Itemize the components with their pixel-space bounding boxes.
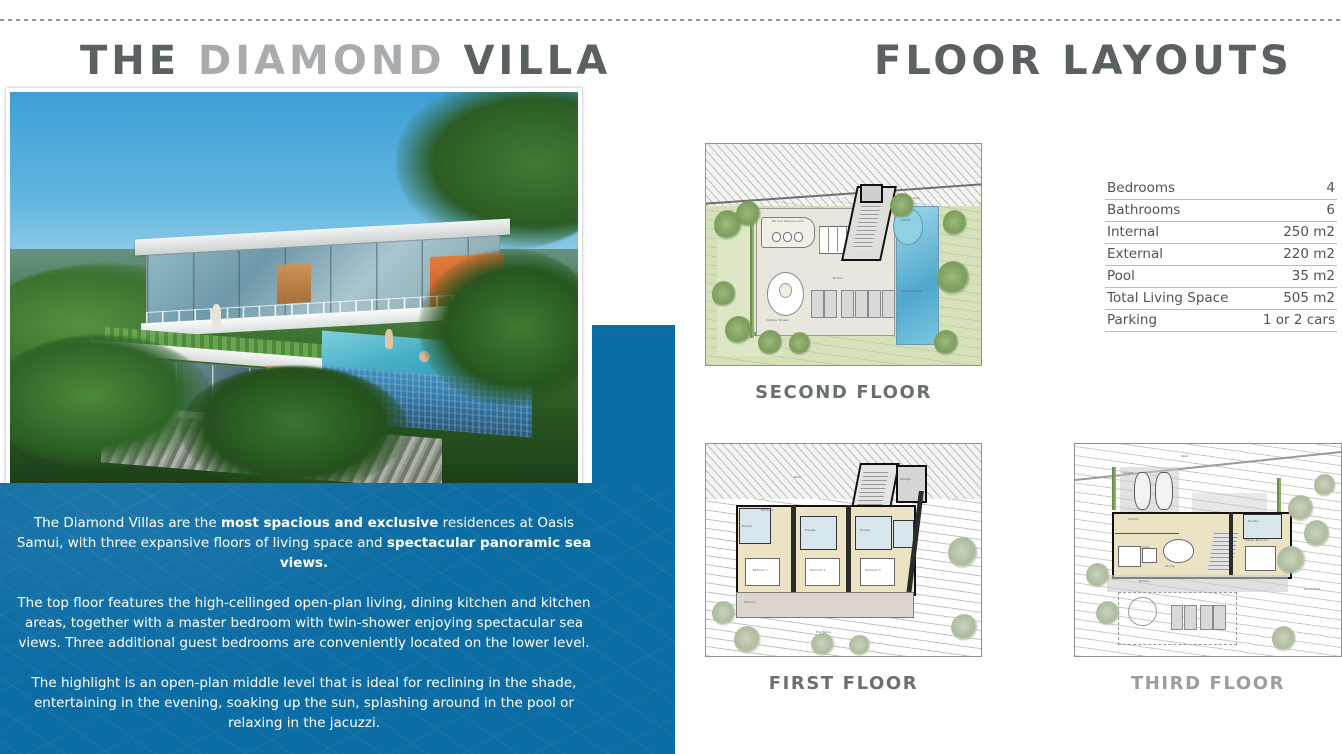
plan3-label-sea-outlook: Sea Outlook — [1304, 588, 1321, 591]
table-row: Bedrooms 4 — [1105, 178, 1337, 200]
villa-photo-canvas — [10, 92, 578, 484]
plan1-tree-3 — [811, 633, 836, 656]
plan1-label-entrance: Entrance — [761, 509, 773, 512]
plan1-balcony — [736, 592, 914, 617]
plan1-label-bedroom-2: Bedroom 2 — [811, 569, 826, 572]
plan3-lounger-2 — [1184, 605, 1197, 630]
floor-plan-second[interactable]: Bar and barbecue area Outdoor Shower Ter… — [705, 143, 982, 403]
floor-plan-second-image: Bar and barbecue area Outdoor Shower Ter… — [705, 143, 982, 366]
plan3-label-carport: Carport — [1123, 472, 1133, 475]
table-row: External 220 m2 — [1105, 244, 1337, 266]
plan2-lounger-1 — [811, 290, 824, 319]
spec-label: Internal — [1107, 224, 1159, 240]
plan2-tree-8 — [943, 210, 968, 237]
plan1-label-bedroom-1: Bedroom 1 — [753, 569, 768, 572]
description-paragraph-1: The Diamond Villas are the most spacious… — [10, 513, 598, 573]
plan2-tree-10 — [934, 330, 959, 357]
plan2-lounger-2 — [824, 290, 837, 319]
plan3-partition — [1229, 512, 1233, 576]
plan3-label-ensuite: Ensuite — [1248, 520, 1258, 523]
floor-plan-first-label: FIRST FLOOR — [705, 673, 982, 694]
description-panel: The Diamond Villas are the most spacious… — [0, 483, 675, 754]
plan2-label-jacuzzi: Outdoor Shower — [767, 319, 789, 322]
floor-plan-third-label: THIRD FLOOR — [1074, 673, 1342, 694]
brochure-page: THE DIAMOND VILLA FLOOR LAYOUTS — [0, 0, 1342, 754]
description-paragraph-2: The top floor features the high-ceilinge… — [10, 593, 598, 653]
floor-plan-third[interactable]: Road Carport Kitchen Living Area Dining … — [1074, 443, 1342, 694]
plan2-lounger-5 — [868, 290, 881, 319]
description-paragraph-3: The highlight is an open-plan middle lev… — [10, 673, 598, 733]
plan3-label-terrace: Terrace — [1139, 580, 1149, 583]
plan2-tree-3 — [712, 281, 737, 308]
plan1-bed-3 — [860, 558, 895, 585]
plan1-partition-1 — [791, 505, 795, 592]
blue-panel-notch — [592, 325, 675, 485]
plan2-tree-7 — [890, 193, 915, 220]
plan3-jacuzzi-below — [1128, 597, 1157, 627]
foreground-foliage — [180, 366, 407, 484]
plan1-label-ensuite-3: Ensuite — [860, 529, 870, 532]
spec-label: Pool — [1107, 268, 1135, 284]
plan2-lift-shaft — [860, 184, 883, 203]
plan3-label-dining: Dining — [1165, 565, 1174, 568]
plan3-label-road: Road — [1181, 455, 1188, 458]
plan2-tree-6 — [789, 332, 811, 356]
plan3-tree-7 — [1314, 474, 1335, 497]
plan3-label-kitchen: Kitchen — [1128, 518, 1138, 521]
plan3-car-2 — [1155, 472, 1173, 510]
plan3-hedge-left — [1112, 467, 1116, 509]
spec-value: 505 m2 — [1283, 290, 1335, 306]
spec-value: 220 m2 — [1283, 246, 1335, 262]
floor-plan-second-label: SECOND FLOOR — [705, 382, 982, 403]
table-row: Pool 35 m2 — [1105, 266, 1337, 288]
plan3-lounger-3 — [1200, 605, 1213, 630]
title-word-the: THE — [80, 38, 198, 84]
plan3-dining-table — [1163, 539, 1194, 562]
spec-label: Parking — [1107, 312, 1157, 328]
plan3-master-bed — [1245, 546, 1276, 571]
plan2-barstool-2 — [783, 232, 792, 242]
plan3-kitchen — [1115, 514, 1179, 534]
spec-value: 6 — [1326, 202, 1335, 218]
plan2-tree-2 — [736, 201, 761, 228]
plan3-label-master: Master Bedroom — [1245, 539, 1268, 542]
plan3-lounger-4 — [1213, 605, 1226, 630]
plan1-ensuite-3 — [855, 516, 893, 550]
title-word-villa: VILLA — [446, 38, 612, 84]
plan1-label-ensuite-2: Ensuite — [805, 529, 815, 532]
table-row: Parking 1 or 2 cars — [1105, 310, 1337, 332]
plan1-bed-2 — [805, 558, 840, 585]
plan3-car-1 — [1134, 472, 1152, 510]
plan2-lounger-3 — [841, 290, 854, 319]
top-dotted-divider — [0, 19, 1342, 21]
plan2-lounger-6 — [882, 290, 895, 319]
spec-label: Bathrooms — [1107, 202, 1180, 218]
table-row: Total Living Space 505 m2 — [1105, 288, 1337, 310]
person-on-deck — [212, 304, 222, 328]
table-row: Bathrooms 6 — [1105, 200, 1337, 222]
plan2-label-swimming-pool: Swimming Pool — [901, 290, 922, 293]
floor-plan-third-image: Road Carport Kitchen Living Area Dining … — [1074, 443, 1342, 657]
plan1-label-road: Road — [794, 476, 801, 479]
plan1-label-ensuite-1: Ensuite — [742, 525, 752, 528]
plan2-label-bar: Bar and barbecue area — [772, 220, 804, 223]
plan2-barstool-3 — [794, 232, 803, 242]
plan3-terrace-below — [1107, 575, 1288, 592]
specifications-table: Bedrooms 4 Bathrooms 6 Internal 250 m2 E… — [1105, 178, 1337, 332]
plan1-label-balcony: Balcony — [745, 601, 756, 604]
plan3-tree-6 — [1272, 626, 1296, 651]
plan3-master-ensuite — [1243, 514, 1282, 539]
plan2-label-pool-spa: Jacuzzi — [901, 219, 911, 222]
page-title-villa: THE DIAMOND VILLA — [80, 38, 611, 84]
spec-label: External — [1107, 246, 1163, 262]
plan2-label-terrace: Terrace — [833, 277, 843, 280]
plan1-tree-2 — [734, 626, 762, 654]
spec-label: Bedrooms — [1107, 180, 1175, 196]
plan3-sofa — [1118, 546, 1141, 567]
description-text: The Diamond Villas are the most spacious… — [0, 483, 608, 733]
plan3-armchair — [1142, 548, 1157, 563]
plan1-ensuite-4 — [893, 520, 914, 547]
plan1-label-storage: Storage — [900, 478, 911, 481]
floor-plan-first-image: Road Storage Ensuite Ensuite Ensuite Bed… — [705, 443, 982, 657]
villa-exterior-photo — [6, 88, 582, 488]
table-row: Internal 250 m2 — [1105, 222, 1337, 244]
page-title-floor-layouts: FLOOR LAYOUTS — [874, 38, 1293, 84]
plan1-partition-2 — [846, 505, 850, 592]
plan1-tree-4 — [849, 635, 871, 656]
plan1-label-bedroom-3: Bedroom 3 — [866, 569, 881, 572]
spec-label: Total Living Space — [1107, 290, 1228, 306]
plan3-tree-4 — [1304, 520, 1331, 548]
plan2-tree-5 — [758, 330, 783, 357]
spec-value: 4 — [1326, 180, 1335, 196]
plan1-bed-1 — [745, 558, 780, 585]
plan2-tree-4 — [725, 316, 753, 345]
spec-value: 35 m2 — [1292, 268, 1335, 284]
plan2-lounger-4 — [855, 290, 868, 319]
villa-upper-door — [277, 264, 311, 305]
plan3-tree-1 — [1086, 563, 1110, 588]
plan2-barstool-1 — [772, 232, 781, 242]
plan1-ensuite-2 — [800, 516, 838, 550]
floor-plan-first[interactable]: Road Storage Ensuite Ensuite Ensuite Bed… — [705, 443, 982, 694]
spec-value: 250 m2 — [1283, 224, 1335, 240]
plan3-hedge-right — [1277, 478, 1281, 512]
plan3-lounger-1 — [1171, 605, 1184, 630]
spec-value: 1 or 2 cars — [1263, 312, 1335, 328]
person-poolside — [385, 329, 394, 349]
title-word-diamond: DIAMOND — [198, 38, 446, 84]
